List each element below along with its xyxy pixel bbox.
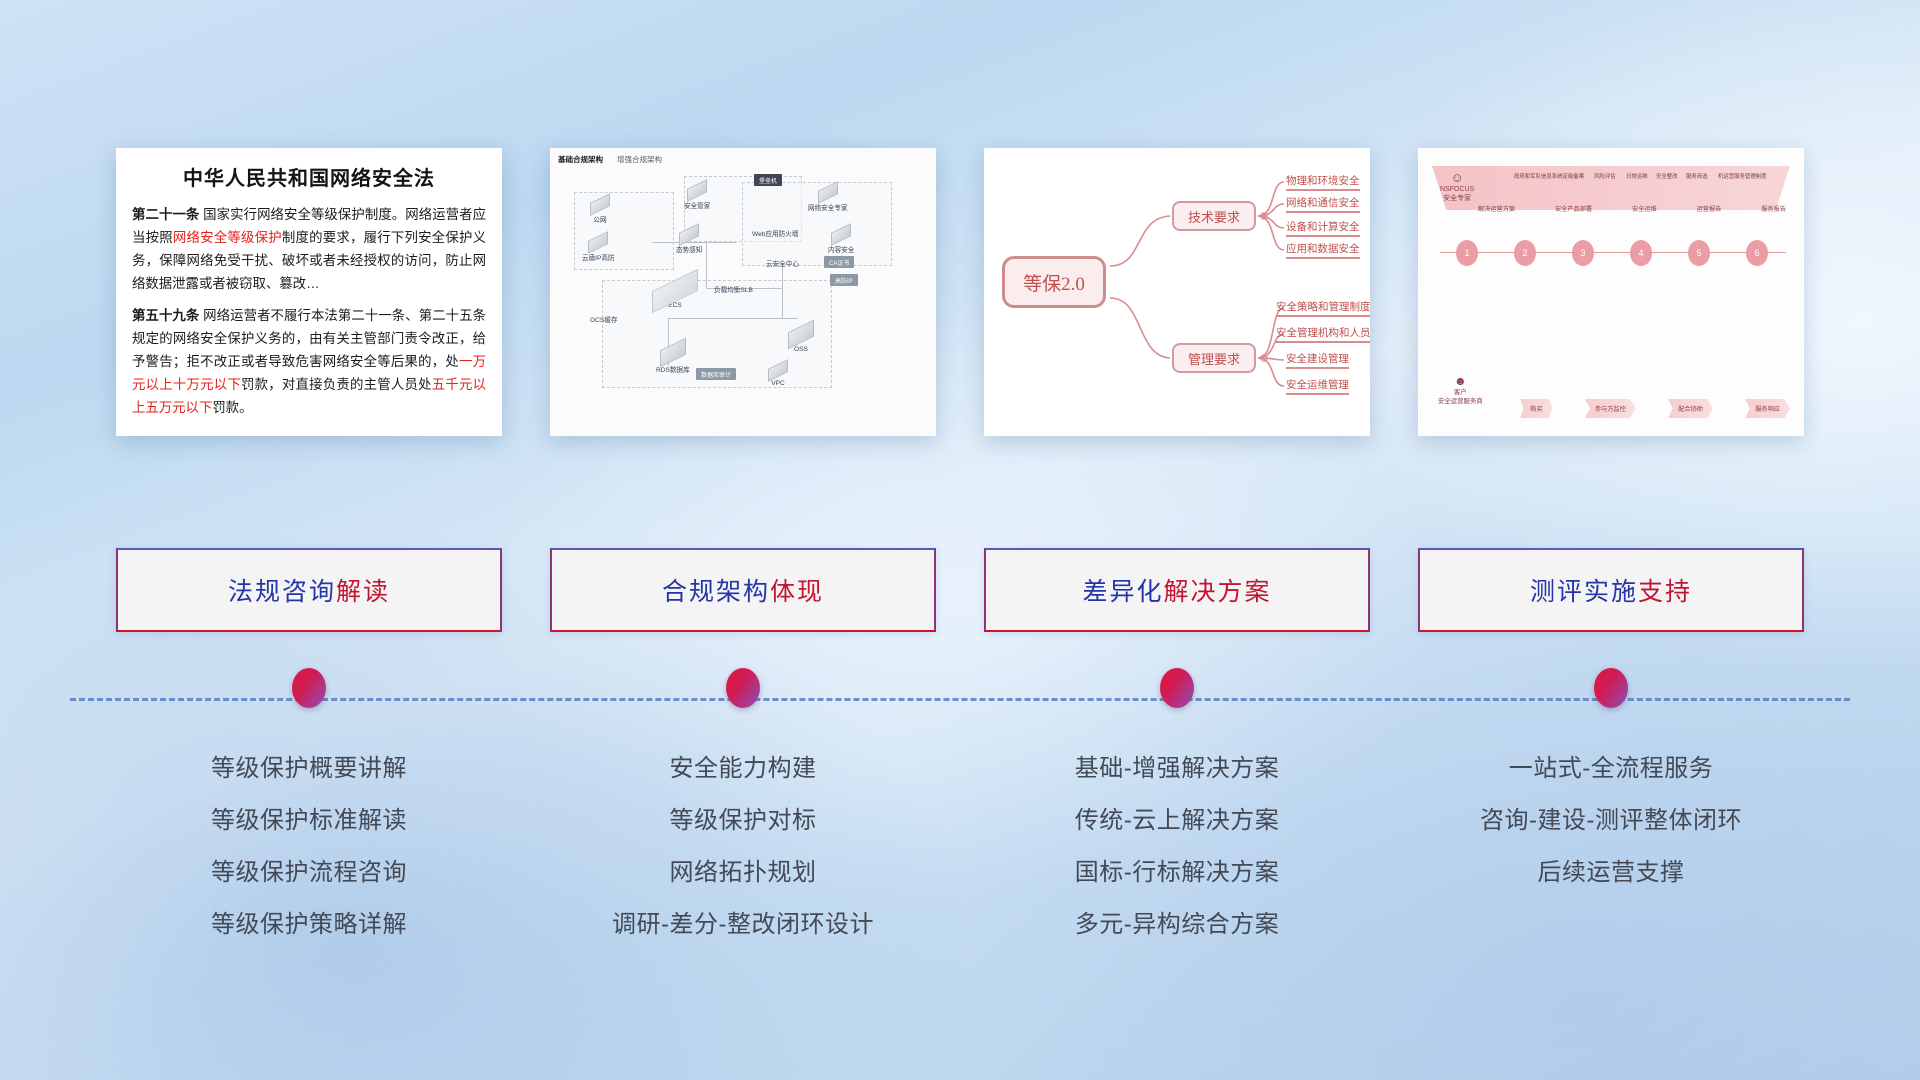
foot-chevron: 服务响应 xyxy=(1745,399,1790,418)
arch-node-label: 负载均衡SLB xyxy=(714,287,753,294)
law-text-seg: 罚款。 xyxy=(212,400,252,415)
list-item: 一站式-全流程服务 xyxy=(1509,748,1714,783)
person-icon: ☺ xyxy=(1440,170,1474,186)
architecture-tab-enhanced[interactable]: 增强合规架构 xyxy=(617,154,662,165)
arch-node-label: 安全管家 xyxy=(684,203,710,210)
law-paragraph-21: 第二十一条 国家实行网络安全等级保护制度。网络运营者应当按照网络安全等级保护制度… xyxy=(132,203,486,295)
timeline-slot xyxy=(116,668,502,708)
arch-node-label: OCS缓存 xyxy=(590,317,617,324)
list-item: 国标-行标解决方案 xyxy=(1075,852,1280,887)
infographic-brand: ☺ NSFOCUS 安全专家 xyxy=(1440,170,1474,204)
arch-node-label: OSS xyxy=(794,346,808,353)
step-marker: 3 xyxy=(1572,240,1594,266)
list-item: 安全能力构建 xyxy=(670,748,817,783)
infographic-footer-row: 购买 参与方监控 配合协助 服务响应 xyxy=(1432,399,1790,418)
arch-node-label: 堡垒机 xyxy=(754,174,782,186)
arch-node-label: 云盾IP高防 xyxy=(582,255,615,262)
arch-node-anti-ddos-ip: 高防IP xyxy=(830,274,858,286)
arch-node-bastion: 堡垒机 xyxy=(754,174,782,186)
step-marker: 5 xyxy=(1688,240,1710,266)
list-item: 等级保护对标 xyxy=(670,800,817,835)
arch-node-expert: 网络安全专家 xyxy=(808,186,848,212)
list-item: 传统-云上解决方案 xyxy=(1075,800,1280,835)
arch-node-slb: 负载均衡SLB xyxy=(714,284,753,294)
preview-card-row: 中华人民共和国网络安全法 第二十一条 国家实行网络安全等级保护制度。网络运营者应… xyxy=(0,148,1920,436)
pill-label-head: 测评实施 xyxy=(1530,572,1638,608)
arch-node-label: 高防IP xyxy=(830,274,858,286)
pill-label-head: 法规咨询 xyxy=(228,572,336,608)
pill-assessment-support[interactable]: 测评实施支持 xyxy=(1418,548,1804,632)
foot-chevron: 配合协助 xyxy=(1668,399,1713,418)
arch-node-content-security: 内容安全 xyxy=(828,228,854,254)
detail-list-solution: 基础-增强解决方案 传统-云上解决方案 国标-行标解决方案 多元-异构综合方案 xyxy=(984,736,1370,939)
law-article-label: 第二十一条 xyxy=(132,207,199,222)
arch-wire xyxy=(782,264,783,318)
service-item: 服务报告 xyxy=(1761,204,1786,213)
step-marker: 4 xyxy=(1630,240,1652,266)
timeline-slot xyxy=(550,668,936,708)
timeline-dot[interactable] xyxy=(292,668,326,708)
arch-node-label: RDS数据库 xyxy=(656,367,690,374)
service-item: 解决运营方案 xyxy=(1478,204,1515,213)
list-item: 等级保护策略详解 xyxy=(211,904,407,939)
mindmap-leaf: 物理和环境安全 xyxy=(1286,173,1360,191)
timeline-slot xyxy=(1418,668,1804,708)
preview-card-architecture[interactable]: 基础合规架构 增强合规架构 公网 云盾IP高防 态势 xyxy=(550,148,936,436)
pill-regulation-consulting[interactable]: 法规咨询解读 xyxy=(116,548,502,632)
list-item: 多元-异构综合方案 xyxy=(1075,904,1280,939)
preview-card-mindmap[interactable]: 等保2.0 技术要求 管理要求 物理和环境安全 网络和通信安全 设备和计算安全 … xyxy=(984,148,1370,436)
arch-node-rds: RDS数据库 xyxy=(656,344,690,374)
list-item: 咨询-建设-测评整体闭环 xyxy=(1480,800,1742,835)
list-item: 等级保护标准解读 xyxy=(211,800,407,835)
people-icon: ☻ xyxy=(1438,374,1483,390)
timeline-dot[interactable] xyxy=(1160,668,1194,708)
brand-sub: 安全专家 xyxy=(1440,195,1474,204)
infographic-service-row: 解决运营方案 安全产品部署 安全运维 运营报告 服务报告 xyxy=(1478,204,1786,213)
arch-node-ocs: OCS缓存 xyxy=(590,314,617,324)
list-item: 等级保护流程咨询 xyxy=(211,852,407,887)
architecture-canvas: 公网 云盾IP高防 态势感知 安全管家 堡垒机 网络安全专家 W xyxy=(556,168,930,430)
detail-list-row: 等级保护概要讲解 等级保护标准解读 等级保护流程咨询 等级保护策略详解 安全能力… xyxy=(0,736,1920,939)
pill-label-tail: 支持 xyxy=(1638,572,1692,608)
arch-node-ecs: ECS xyxy=(652,280,698,309)
list-item: 网络拓扑规划 xyxy=(670,852,817,887)
step-marker: 1 xyxy=(1456,240,1478,266)
arch-node-public-net: 公网 xyxy=(590,198,610,224)
arch-node-label: 网络安全专家 xyxy=(808,205,848,212)
pill-label-head: 合规架构 xyxy=(662,572,770,608)
mindmap-leaf: 应用和数据安全 xyxy=(1286,241,1360,259)
arch-node-label: CA证书 xyxy=(824,256,854,268)
service-item: 运营报告 xyxy=(1697,204,1722,213)
arch-node-security-butler: 安全管家 xyxy=(684,184,710,210)
customer-label: 客户 xyxy=(1438,389,1483,397)
mindmap-leaf: 安全策略和管理制度 xyxy=(1276,299,1370,317)
timeline-dot[interactable] xyxy=(1594,668,1628,708)
mindmap-branch-management: 管理要求 xyxy=(1172,343,1256,373)
timeline-slot xyxy=(984,668,1370,708)
brand-name: NSFOCUS xyxy=(1440,186,1474,195)
band-item: 安全整改 xyxy=(1656,172,1678,180)
category-pill-row: 法规咨询解读 合规架构体现 差异化解决方案 测评实施支持 xyxy=(0,548,1920,632)
arch-node-waf: Web应用防火墙 xyxy=(752,228,798,238)
list-item: 后续运营支撑 xyxy=(1538,852,1685,887)
infographic-axis xyxy=(1440,252,1786,253)
arch-node-label: VPC xyxy=(771,380,785,387)
detail-list-regulation: 等级保护概要讲解 等级保护标准解读 等级保护流程咨询 等级保护策略详解 xyxy=(116,736,502,939)
list-item: 基础-增强解决方案 xyxy=(1075,748,1280,783)
pill-label-tail: 解读 xyxy=(336,572,390,608)
arch-node-label: 数据库审计 xyxy=(696,368,736,380)
pill-compliance-architecture[interactable]: 合规架构体现 xyxy=(550,548,936,632)
arch-node-label: 态势感知 xyxy=(676,247,702,254)
mindmap-leaf: 网络和通信安全 xyxy=(1286,195,1360,213)
arch-node-label: 公网 xyxy=(593,217,606,224)
mindmap-leaf: 设备和计算安全 xyxy=(1286,219,1360,237)
step-marker: 2 xyxy=(1514,240,1536,266)
list-item: 调研-差分-整改闭环设计 xyxy=(612,904,874,939)
arch-wire xyxy=(668,318,798,319)
preview-card-infographic[interactable]: ☺ NSFOCUS 安全专家 政府和军队信息系统定级备案 风险评估 日常运维 安… xyxy=(1418,148,1804,436)
law-paragraph-59: 第五十九条 网络运营者不履行本法第二十一条、第二十五条规定的网络安全保护义务的，… xyxy=(132,304,486,419)
arch-node-oss: OSS xyxy=(788,326,814,353)
foot-chevron: 参与方监控 xyxy=(1585,399,1636,418)
detail-list-assessment: 一站式-全流程服务 咨询-建设-测评整体闭环 后续运营支撑 xyxy=(1418,736,1804,939)
band-item: 日常运维 xyxy=(1626,172,1648,180)
law-highlight-seg: 网络安全等级保护 xyxy=(173,230,282,245)
pill-label-tail: 体现 xyxy=(770,572,824,608)
list-item: 等级保护概要讲解 xyxy=(211,748,407,783)
band-item: 机运营服务管理制度 xyxy=(1718,172,1767,180)
arch-node-label: Web应用防火墙 xyxy=(752,231,798,238)
service-item: 安全运维 xyxy=(1632,204,1657,213)
band-item: 风险评估 xyxy=(1594,172,1616,180)
band-item: 服务商选 xyxy=(1686,172,1708,180)
mindmap-branch-technical: 技术要求 xyxy=(1172,201,1256,231)
arch-node-ddos: 云盾IP高防 xyxy=(582,236,615,262)
mindmap-leaf: 安全管理机构和人员 xyxy=(1276,325,1370,343)
pill-label-tail: 解决方案 xyxy=(1164,572,1272,608)
architecture-tabs: 基础合规架构 增强合规架构 xyxy=(558,154,662,165)
arch-node-ca: CA证书 xyxy=(824,256,854,268)
arch-wire xyxy=(706,242,707,288)
law-title: 中华人民共和国网络安全法 xyxy=(132,162,486,191)
arch-node-db-audit: 数据库审计 xyxy=(696,368,736,380)
monitor-icon xyxy=(679,223,699,246)
arch-node-vpc: VPC xyxy=(768,364,788,387)
step-marker: 6 xyxy=(1746,240,1768,266)
pill-label-head: 差异化 xyxy=(1082,572,1163,608)
service-item: 安全产品部署 xyxy=(1555,204,1592,213)
arch-node-cloud-security-center: 云安全中心 xyxy=(766,258,799,268)
law-text-seg: 罚款，对直接负责的主管人员处 xyxy=(241,377,432,392)
arch-node-label: 内容安全 xyxy=(828,247,854,254)
mindmap-leaf: 安全运维管理 xyxy=(1286,377,1349,395)
architecture-tab-basic[interactable]: 基础合规架构 xyxy=(558,154,603,165)
timeline-dot[interactable] xyxy=(726,668,760,708)
pill-differentiated-solution[interactable]: 差异化解决方案 xyxy=(984,548,1370,632)
mindmap-root: 等保2.0 xyxy=(1002,256,1106,308)
detail-list-architecture: 安全能力构建 等级保护对标 网络拓扑规划 调研-差分-整改闭环设计 xyxy=(550,736,936,939)
preview-card-law[interactable]: 中华人民共和国网络安全法 第二十一条 国家实行网络安全等级保护制度。网络运营者应… xyxy=(116,148,502,436)
law-article-label: 第五十九条 xyxy=(132,308,199,323)
timeline-marker-row xyxy=(0,668,1920,708)
mindmap-leaf: 安全建设管理 xyxy=(1286,351,1349,369)
arch-node-situation: 态势感知 xyxy=(676,228,702,254)
band-item: 政府和军队信息系统定级备案 xyxy=(1514,172,1584,180)
arch-node-label: 云安全中心 xyxy=(766,261,799,268)
foot-chevron: 购买 xyxy=(1520,399,1552,418)
